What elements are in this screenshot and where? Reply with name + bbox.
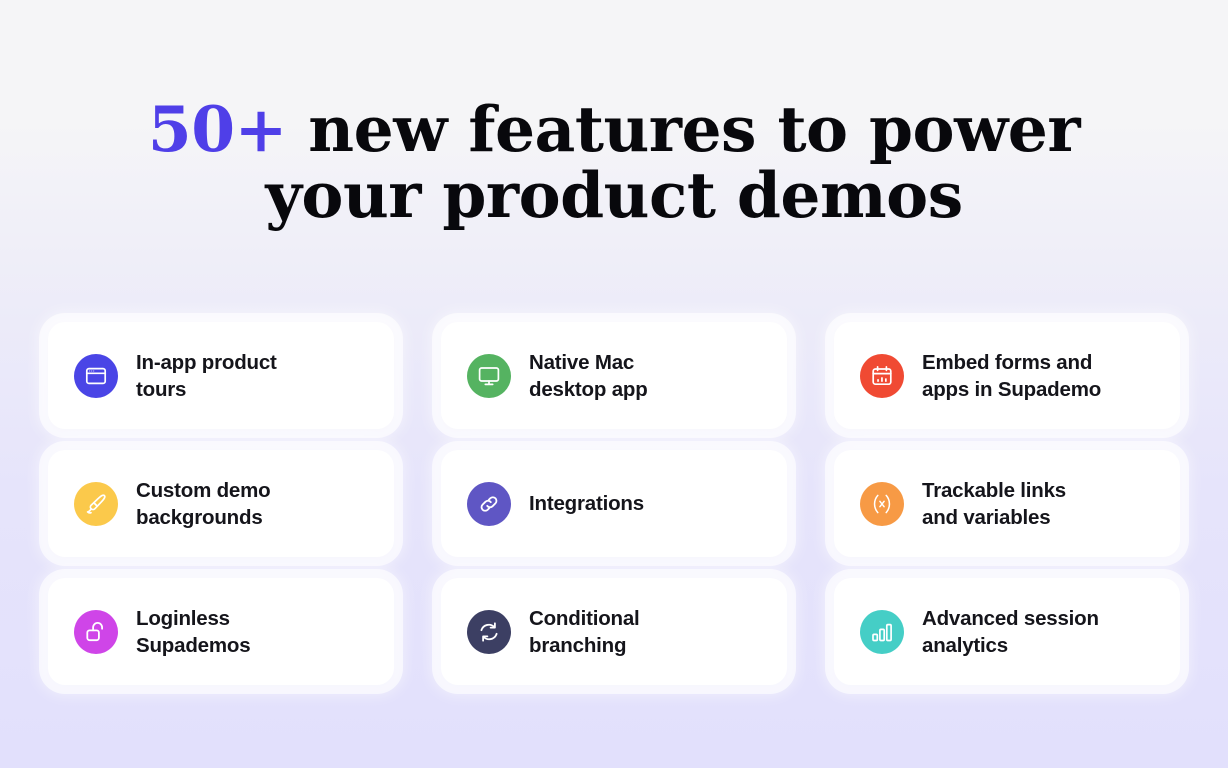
feature-card[interactable]: In-app product tours: [48, 322, 394, 429]
feature-card-label: Loginless Supademos: [136, 605, 250, 659]
feature-card-label: Embed forms and apps in Supademo: [922, 349, 1101, 403]
feature-card-label: Integrations: [529, 490, 644, 517]
variable-x-icon: [860, 482, 904, 526]
feature-card[interactable]: Loginless Supademos: [48, 578, 394, 685]
feature-card-label: Native Mac desktop app: [529, 349, 648, 403]
chain-link-icon: [467, 482, 511, 526]
headline-line-1: 50+ new features to power: [90, 96, 1138, 162]
desktop-monitor-icon: [467, 354, 511, 398]
feature-card[interactable]: Native Mac desktop app: [441, 322, 787, 429]
headline-line-2: your product demos: [90, 162, 1138, 228]
feature-card-grid: In-app product tours Native Mac desktop …: [48, 322, 1180, 685]
feature-card-label: Trackable links and variables: [922, 477, 1066, 531]
unlocked-padlock-icon: [74, 610, 118, 654]
feature-card[interactable]: Custom demo backgrounds: [48, 450, 394, 557]
headline-line-1-rest: new features to power: [287, 92, 1080, 166]
bar-chart-analytics-icon: [860, 610, 904, 654]
feature-card-label: Advanced session analytics: [922, 605, 1099, 659]
feature-card-label: In-app product tours: [136, 349, 277, 403]
feature-card[interactable]: Advanced session analytics: [834, 578, 1180, 685]
headline-accent-count: 50+: [148, 92, 287, 166]
page-title: 50+ new features to power your product d…: [0, 96, 1228, 228]
feature-card-label: Custom demo backgrounds: [136, 477, 270, 531]
calendar-form-icon: [860, 354, 904, 398]
feature-card-label: Conditional branching: [529, 605, 640, 659]
feature-card[interactable]: Integrations: [441, 450, 787, 557]
feature-card[interactable]: Conditional branching: [441, 578, 787, 685]
paintbrush-icon: [74, 482, 118, 526]
browser-window-icon: [74, 354, 118, 398]
feature-announcement-page: 50+ new features to power your product d…: [0, 0, 1228, 768]
feature-card[interactable]: Trackable links and variables: [834, 450, 1180, 557]
feature-card[interactable]: Embed forms and apps in Supademo: [834, 322, 1180, 429]
sync-arrows-icon: [467, 610, 511, 654]
